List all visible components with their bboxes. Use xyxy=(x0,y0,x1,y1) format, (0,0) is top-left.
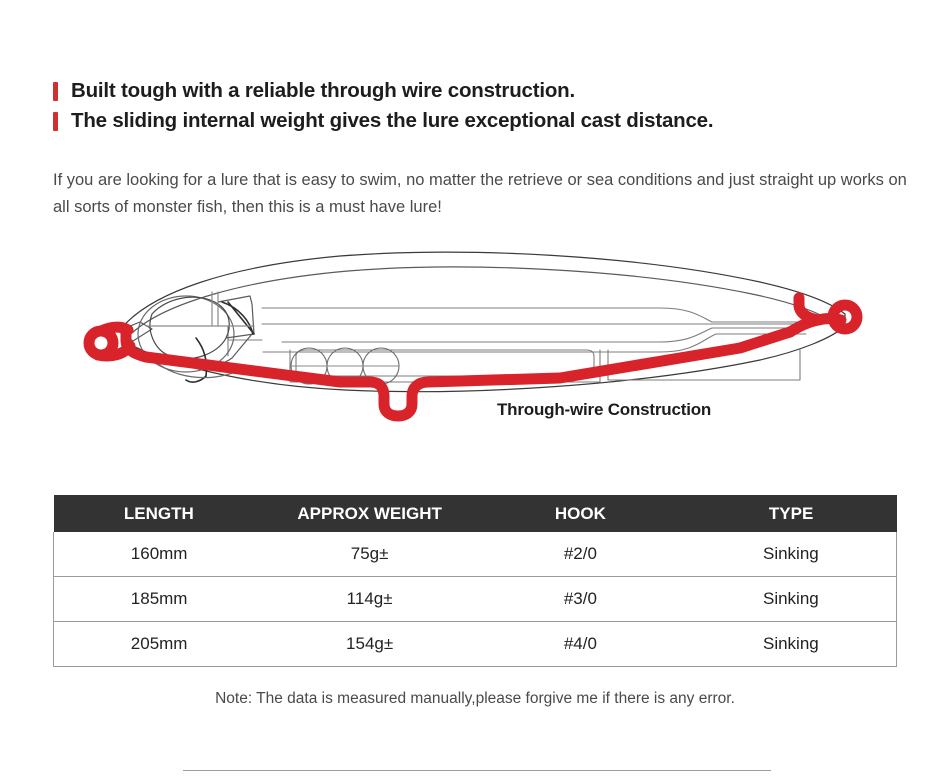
table-header-row: LENGTH APPROX WEIGHT HOOK TYPE xyxy=(54,495,897,532)
table-cell-type: Sinking xyxy=(686,532,897,577)
table-cell-weight: 114g± xyxy=(264,577,475,622)
feature-item: The sliding internal weight gives the lu… xyxy=(53,106,943,136)
intro-paragraph: If you are looking for a lure that is ea… xyxy=(53,167,921,221)
table-row: 185mm 114g± #3/0 Sinking xyxy=(54,577,897,622)
lure-upper-contour xyxy=(132,267,833,333)
through-wire xyxy=(89,298,857,416)
chamber-lower-rail xyxy=(282,328,808,342)
front-eye-twist-upper xyxy=(101,327,128,331)
bottom-divider xyxy=(183,770,771,771)
table-cell-type: Sinking xyxy=(686,577,897,622)
table-cell-length: 205mm xyxy=(54,622,265,667)
feature-item-label: Built tough with a reliable through wire… xyxy=(71,79,575,103)
weight-track-inner xyxy=(296,350,594,376)
table-header-cell: TYPE xyxy=(686,495,897,532)
table-cell-hook: #3/0 xyxy=(475,577,686,622)
table-row: 160mm 75g± #2/0 Sinking xyxy=(54,532,897,577)
table-cell-type: Sinking xyxy=(686,622,897,667)
table-header-cell: APPROX WEIGHT xyxy=(264,495,475,532)
table-header-cell: LENGTH xyxy=(54,495,265,532)
feature-item: Built tough with a reliable through wire… xyxy=(53,76,943,106)
red-bar-bullet-icon xyxy=(53,82,58,101)
lure-spec-table: LENGTH APPROX WEIGHT HOOK TYPE 160mm 75g… xyxy=(53,495,897,667)
table-cell-weight: 75g± xyxy=(264,532,475,577)
feature-list: Built tough with a reliable through wire… xyxy=(53,76,943,136)
red-bar-bullet-icon xyxy=(53,112,58,131)
feature-item-label: The sliding internal weight gives the lu… xyxy=(71,109,713,133)
chamber-upper-rail xyxy=(262,308,810,322)
table-header-cell: HOOK xyxy=(475,495,686,532)
through-wire-label: Through-wire Construction xyxy=(497,400,711,420)
rear-eye-link xyxy=(818,319,841,321)
table-cell-hook: #4/0 xyxy=(475,622,686,667)
table-cell-length: 185mm xyxy=(54,577,265,622)
table-cell-length: 160mm xyxy=(54,532,265,577)
table-row: 205mm 154g± #4/0 Sinking xyxy=(54,622,897,667)
measurement-note: Note: The data is measured manually,plea… xyxy=(0,690,950,708)
table-cell-weight: 154g± xyxy=(264,622,475,667)
table-cell-hook: #2/0 xyxy=(475,532,686,577)
lure-cutaway-diagram xyxy=(0,230,950,440)
